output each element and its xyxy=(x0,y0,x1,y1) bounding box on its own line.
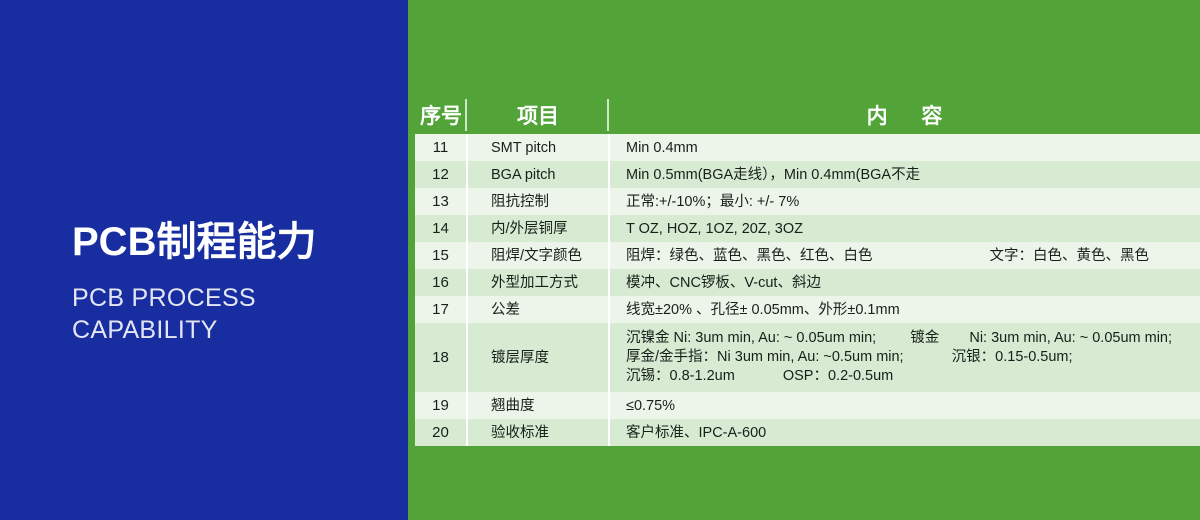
cell-content: 正常:+/-10%；最小: +/- 7% xyxy=(609,188,1200,215)
cell-no: 12 xyxy=(415,161,467,188)
cell-item: 阻抗控制 xyxy=(467,188,609,215)
cell-item: 内/外层铜厚 xyxy=(467,215,609,242)
cell-content-line: 厚金/金手指：Ni 3um min, Au: ~0.5um min; 沉银：0.… xyxy=(626,348,1200,367)
plating-line2-b: 沉银：0.15-0.5um; xyxy=(952,349,1073,365)
cell-content-line: 沉锡：0.8-1.2um OSP：0.2-0.5um xyxy=(626,367,1200,386)
cell-no: 14 xyxy=(415,215,467,242)
cell-item: 翘曲度 xyxy=(467,392,609,419)
cell-no: 15 xyxy=(415,242,467,269)
cell-content: Min 0.5mm(BGA走线），Min 0.4mm(BGA不走 xyxy=(609,161,1200,188)
cell-no: 20 xyxy=(415,419,467,446)
cell-content: ≤0.75% xyxy=(609,392,1200,419)
page-title-en: PCB PROCESS CAPABILITY xyxy=(72,282,402,346)
table-row: 14 内/外层铜厚 T OZ, HOZ, 1OZ, 20Z, 3OZ xyxy=(415,215,1200,242)
column-header-item: 项目 xyxy=(467,96,609,134)
table-body: 11 SMT pitch Min 0.4mm 12 BGA pitch Min … xyxy=(415,134,1200,446)
cell-content: Min 0.4mm xyxy=(609,134,1200,161)
table-row: 11 SMT pitch Min 0.4mm xyxy=(415,134,1200,161)
cell-no: 13 xyxy=(415,188,467,215)
cell-content: T OZ, HOZ, 1OZ, 20Z, 3OZ xyxy=(609,215,1200,242)
table-row: 18 镀层厚度 沉镍金 Ni: 3um min, Au: ~ 0.05um mi… xyxy=(415,323,1200,392)
page-title-en-line2: CAPABILITY xyxy=(72,314,402,346)
cell-no: 11 xyxy=(415,134,467,161)
cell-item: SMT pitch xyxy=(467,134,609,161)
cell-item: 公差 xyxy=(467,296,609,323)
cell-content: 模冲、CNC锣板、V-cut、斜边 xyxy=(609,269,1200,296)
page-title-en-line1: PCB PROCESS xyxy=(72,282,402,314)
cell-item: 外型加工方式 xyxy=(467,269,609,296)
left-blue-panel: PCB制程能力 PCB PROCESS CAPABILITY xyxy=(0,0,408,520)
column-header-content-label: 内 容 xyxy=(853,105,957,128)
cell-item: 验收标准 xyxy=(467,419,609,446)
column-header-content: 内 容 xyxy=(609,96,1200,134)
table-row: 15 阻焊/文字颜色 阻焊：绿色、蓝色、黑色、红色、白色 文字：白色、黄色、黑色 xyxy=(415,242,1200,269)
cell-content: 沉镍金 Ni: 3um min, Au: ~ 0.05um min; 镀金 Ni… xyxy=(609,323,1200,392)
page-title-cn: PCB制程能力 xyxy=(72,218,402,266)
table-row: 16 外型加工方式 模冲、CNC锣板、V-cut、斜边 xyxy=(415,269,1200,296)
cell-content-line: 沉镍金 Ni: 3um min, Au: ~ 0.05um min; 镀金 Ni… xyxy=(626,329,1200,348)
table-row: 13 阻抗控制 正常:+/-10%；最小: +/- 7% xyxy=(415,188,1200,215)
column-header-no: 序号 xyxy=(415,96,467,134)
cell-content: 阻焊：绿色、蓝色、黑色、红色、白色 文字：白色、黄色、黑色 xyxy=(609,242,1200,269)
spec-table-wrapper: 序号 项目 内 容 11 SMT pitch Min 0.4mm 12 xyxy=(415,96,1200,441)
cell-no: 16 xyxy=(415,269,467,296)
plating-line1-a: 沉镍金 Ni: 3um min, Au: ~ 0.05um min; xyxy=(626,330,876,346)
pcb-capability-table: 序号 项目 内 容 11 SMT pitch Min 0.4mm 12 xyxy=(415,96,1200,446)
table-header-row: 序号 项目 内 容 xyxy=(415,96,1200,134)
plating-line2-a: 厚金/金手指：Ni 3um min, Au: ~0.5um min; xyxy=(626,349,904,365)
cell-content: 线宽±20% 、孔径± 0.05mm、外形±0.1mm xyxy=(609,296,1200,323)
cell-no: 19 xyxy=(415,392,467,419)
plating-line1-c: Ni: 3um min, Au: ~ 0.05um min; xyxy=(969,330,1172,346)
plating-line3-b: OSP：0.2-0.5um xyxy=(783,368,893,384)
table-row: 17 公差 线宽±20% 、孔径± 0.05mm、外形±0.1mm xyxy=(415,296,1200,323)
table-row: 20 验收标准 客户标准、IPC-A-600 xyxy=(415,419,1200,446)
title-block: PCB制程能力 PCB PROCESS CAPABILITY xyxy=(72,218,402,346)
cell-no: 18 xyxy=(415,323,467,392)
table-row: 19 翘曲度 ≤0.75% xyxy=(415,392,1200,419)
table-row: 12 BGA pitch Min 0.5mm(BGA走线），Min 0.4mm(… xyxy=(415,161,1200,188)
cell-content-main: 阻焊：绿色、蓝色、黑色、红色、白色 xyxy=(626,248,873,264)
cell-content-note: 文字：白色、黄色、黑色 xyxy=(990,247,1150,265)
plating-line3-a: 沉锡：0.8-1.2um xyxy=(626,368,735,384)
table-header: 序号 项目 内 容 xyxy=(415,96,1200,134)
slide-root: PCB制程能力 PCB PROCESS CAPABILITY 序号 项目 xyxy=(0,0,1200,520)
plating-line1-b: 镀金 xyxy=(910,330,939,346)
right-green-panel: 序号 项目 内 容 11 SMT pitch Min 0.4mm 12 xyxy=(408,0,1200,520)
cell-item: 阻焊/文字颜色 xyxy=(467,242,609,269)
cell-item: 镀层厚度 xyxy=(467,323,609,392)
cell-no: 17 xyxy=(415,296,467,323)
cell-item: BGA pitch xyxy=(467,161,609,188)
cell-content: 客户标准、IPC-A-600 xyxy=(609,419,1200,446)
